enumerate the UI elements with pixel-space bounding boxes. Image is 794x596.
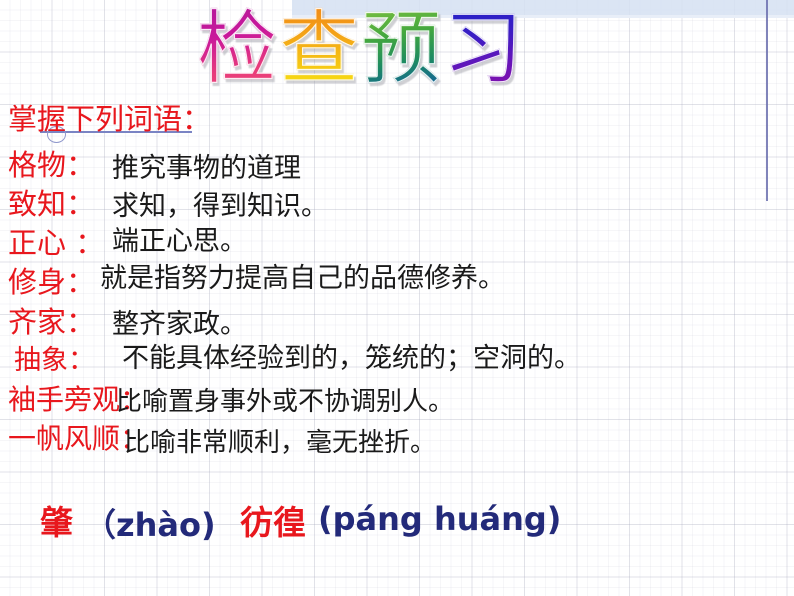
vocabulary-term: 致知： [8, 181, 95, 223]
slide-title: 检查预习 [196, 6, 524, 92]
vocabulary-term: 抽象： [14, 338, 95, 377]
pinyin-hanzi: 彷徨 [240, 496, 306, 544]
pinyin-hanzi: 肇 [40, 496, 73, 544]
vocabulary-term: 修身： [8, 259, 95, 301]
vocabulary-gloss: 就是指努力提高自己的品德修养。 [100, 256, 505, 295]
vocabulary-term: 格物： [8, 142, 95, 184]
title-char-3: 习 [442, 6, 524, 92]
slide-canvas: 检查预习 掌握下列词语： 格物：推究事物的道理致知：求知，得到知识。正心 ：端正… [0, 0, 794, 596]
title-char-2: 预 [360, 6, 442, 92]
vocabulary-term: 正心 ： [8, 220, 104, 262]
vocabulary-term: 齐家： [8, 299, 95, 341]
vocabulary-gloss: 求知，得到知识。 [112, 184, 328, 223]
vocabulary-list: 掌握下列词语： 格物：推究事物的道理致知：求知，得到知识。正心 ：端正心思。修身… [0, 96, 794, 137]
vocabulary-gloss: 端正心思。 [112, 219, 247, 258]
title-char-0: 检 [196, 6, 278, 92]
vocabulary-gloss: 比喻置身事外或不协调别人。 [116, 381, 454, 418]
title-char-1: 查 [278, 6, 360, 92]
vocabulary-gloss: 不能具体经验到的，笼统的；空洞的。 [122, 336, 581, 375]
vocabulary-gloss: 推究事物的道理 [112, 146, 301, 185]
pinyin-romanization: (páng huáng) [318, 500, 561, 538]
vocabulary-row: 一帆风顺：比喻非常顺利，毫无挫折。 [0, 96, 794, 137]
pinyin-romanization: （zhào) [84, 500, 216, 546]
vocabulary-gloss: 比喻非常顺利，毫无挫折。 [124, 422, 436, 459]
pinyin-row: 肇（zhào)彷徨(páng huáng) [0, 490, 794, 546]
